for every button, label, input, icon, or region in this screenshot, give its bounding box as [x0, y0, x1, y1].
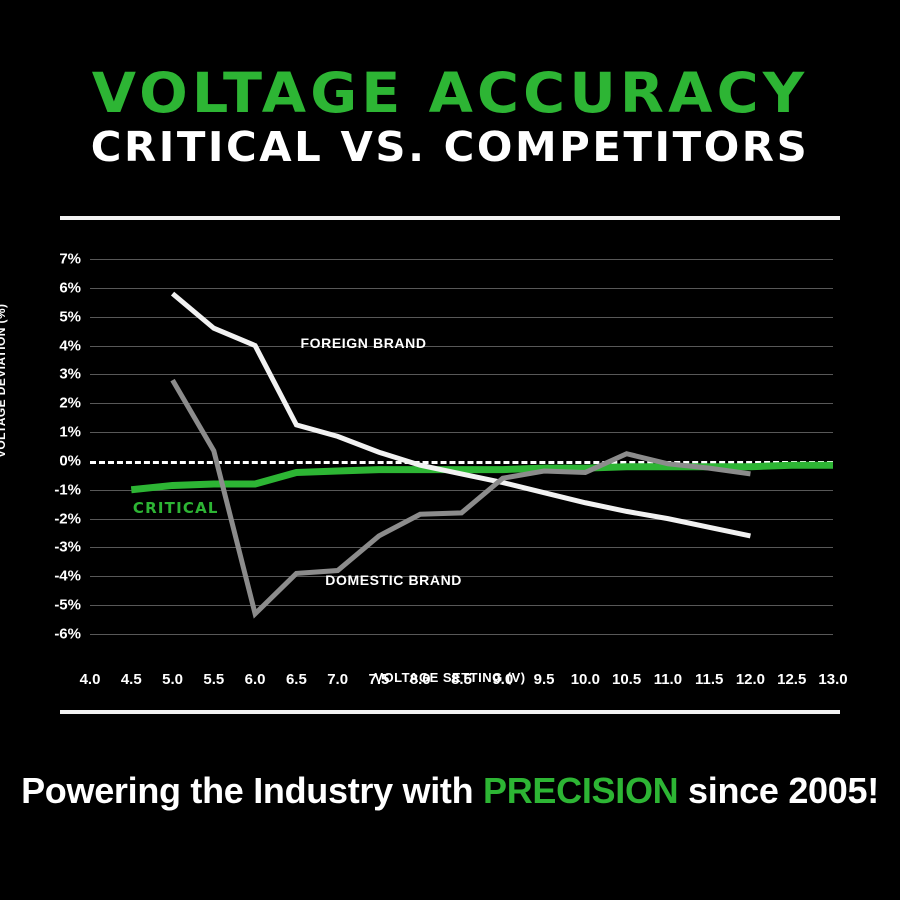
footer-tagline: Powering the Industry with PRECISION sin…: [0, 770, 900, 812]
footer-accent-word: PRECISION: [483, 770, 678, 811]
x-axis-tick-label: 13.0: [803, 671, 863, 688]
y-axis-tick-label: 1%: [21, 424, 81, 441]
chart-container: VOLTAGE DEVIATION (%) VOLTAGE SETTING (V…: [0, 228, 900, 698]
page-title: VOLTAGE ACCURACY CRITICAL VS. COMPETITOR…: [0, 64, 900, 170]
footer-text-after: since 2005!: [678, 770, 879, 811]
infographic-root: VOLTAGE ACCURACY CRITICAL VS. COMPETITOR…: [0, 0, 900, 900]
y-axis-tick-label: -4%: [21, 568, 81, 585]
divider-top: [60, 216, 840, 220]
gridline: [90, 634, 833, 635]
y-axis-tick-label: 2%: [21, 395, 81, 412]
y-axis-tick-label: -5%: [21, 597, 81, 614]
divider-bottom: [60, 710, 840, 714]
y-axis-tick-label: 7%: [21, 251, 81, 268]
y-axis-tick-label: -6%: [21, 626, 81, 643]
footer-text-before: Powering the Industry with: [21, 770, 483, 811]
y-axis-tick-label: 4%: [21, 337, 81, 354]
plot-area: 7%6%5%4%3%2%1%0%-1%-2%-3%-4%-5%-6% 4.04.…: [90, 259, 833, 634]
series-annotation-domestic: DOMESTIC BRAND: [325, 572, 462, 588]
y-axis-tick-label: 5%: [21, 308, 81, 325]
y-axis-tick-label: -1%: [21, 481, 81, 498]
y-axis-label: VOLTAGE DEVIATION (%): [0, 304, 8, 458]
title-main: VOLTAGE ACCURACY: [0, 64, 900, 122]
y-axis-tick-label: 3%: [21, 366, 81, 383]
series-annotation-critical: CRITICAL: [133, 499, 219, 517]
series-annotation-foreign: FOREIGN BRAND: [301, 335, 427, 351]
y-axis-tick-label: 6%: [21, 279, 81, 296]
series-line: [173, 294, 751, 536]
y-axis-tick-label: -2%: [21, 510, 81, 527]
y-axis-tick-label: 0%: [21, 452, 81, 469]
y-axis-tick-label: -3%: [21, 539, 81, 556]
title-sub: CRITICAL VS. COMPETITORS: [0, 124, 900, 170]
